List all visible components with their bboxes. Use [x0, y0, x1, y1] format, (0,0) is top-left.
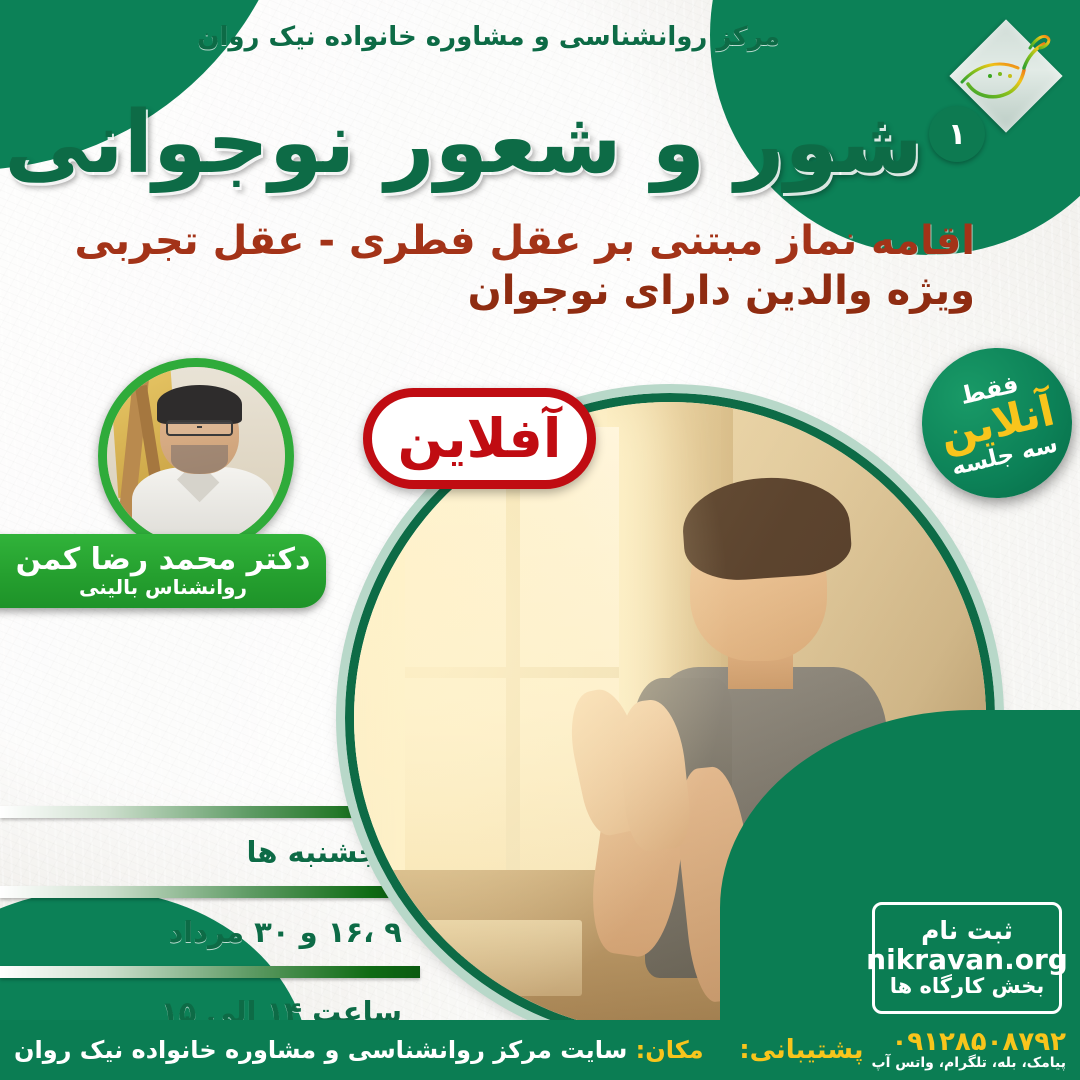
location-value: سایت مرکز روانشناسی و مشاوره خانواده نیک…: [14, 1036, 627, 1064]
presenter-avatar: [98, 358, 294, 554]
center-name: مرکز روانشناسی و مشاوره خانواده نیک روان: [197, 22, 780, 52]
register-url[interactable]: nikravan.org: [866, 945, 1068, 974]
support-phone[interactable]: ۰۹۱۲۸۵۰۸۷۹۲: [891, 1029, 1066, 1056]
register-label: ثبت نام: [921, 918, 1013, 944]
register-section: بخش کارگاه ها: [890, 975, 1044, 998]
location-label: مکان:: [636, 1036, 704, 1064]
glasses-icon: [166, 420, 234, 436]
support-label: پشتیبانی:: [739, 1035, 863, 1065]
subtitle-secondary: ویژه والدین دارای نوجوان: [468, 268, 975, 314]
support-details: ۰۹۱۲۸۵۰۸۷۹۲ پیامک، بله، تلگرام، واتس آپ: [872, 1029, 1066, 1071]
presenter-role: روانشناس بالینی: [79, 576, 247, 598]
status-badge-offline: آفلاین: [363, 388, 596, 489]
page-title: شور و شعور نوجوانی: [4, 100, 923, 186]
subtitle-primary: اقامه نماز مبتنی بر عقل فطری - عقل تجربی: [74, 218, 975, 264]
poster-title-block: ۱ شور و شعور نوجوانی: [4, 100, 985, 186]
poster-canvas: مرکز روانشناسی و مشاوره خانواده نیک روان: [0, 0, 1080, 1080]
presenter-name: دکتر محمد رضا کمن: [16, 544, 311, 576]
support-channels: پیامک، بله، تلگرام، واتس آپ: [872, 1056, 1066, 1071]
offline-label: آفلاین: [398, 412, 562, 466]
presenter-name-banner: دکتر محمد رضا کمن روانشناس بالینی: [0, 534, 326, 608]
support-block: ۰۹۱۲۸۵۰۸۷۹۲ پیامک، بله، تلگرام، واتس آپ …: [739, 1029, 1066, 1071]
registration-box[interactable]: ثبت نام nikravan.org بخش کارگاه ها: [872, 902, 1062, 1014]
presenter-photo-beard: [171, 445, 228, 473]
presenter-photo-hair: [157, 385, 242, 424]
location-line: مکان: سایت مرکز روانشناسی و مشاوره خانوا…: [14, 1038, 704, 1062]
footer-content: ۰۹۱۲۸۵۰۸۷۹۲ پیامک، بله، تلگرام، واتس آپ …: [0, 1020, 1080, 1080]
title-number-badge: ۱: [929, 106, 985, 162]
